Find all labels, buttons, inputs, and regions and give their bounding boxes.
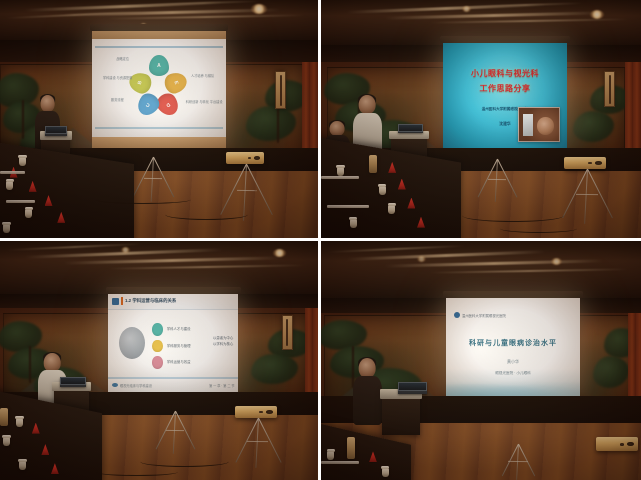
projection-screen[interactable]: 温州医科大学附属眼视光医院 科研与儿童眼病诊治水平 黄小华 眼视光医院 · 小儿… [446,298,580,396]
slide-inset-photo [518,107,560,143]
ceiling-downlight-icon [251,4,267,14]
photo-panel-bottom-right[interactable]: 温州医科大学附属眼视光医院 科研与儿童眼病诊治水平 黄小华 眼视光医院 · 小儿… [321,241,641,480]
tripod-icon [239,418,277,468]
screen-tripod-icon [159,411,191,454]
teacup-icon [388,205,395,214]
petal-label-b: 学科建设 与资源配置 [103,76,133,81]
projector-icon[interactable] [235,406,276,418]
slide-title-blue: 小儿眼科与视光科 工作思路分享 温州医科大学附属眼视光医院 沈建华 [443,43,568,148]
laptop-icon [398,124,424,134]
photo-collage: A E D C B 战略定位 人才培养 与梯队 科研创新 与转化 平台建设 服务… [0,0,641,480]
petal-c: C [133,90,162,119]
projection-screen[interactable]: 1.2 学科运营与临床的关系 学科人才与建设 学科服务与管理 学科运营与效益 以… [108,294,238,392]
header-bar-icon [121,297,123,305]
slide-footer-left: 眼视光临床与学科建设 [120,383,152,388]
slide-logo: 温州医科大学附属眼视光医院 [454,312,506,318]
petal-label-e: 人才培养 与梯队 [191,74,214,79]
slide-side-notes: 以患者为中心 以学科为核心 [213,335,233,348]
logo-mark-icon [454,312,460,318]
projection-screen[interactable]: A E D C B 战略定位 人才培养 与梯队 科研创新 与转化 平台建设 服务… [92,31,226,148]
laptop-icon [60,377,85,387]
ceiling-downlight-icon [590,10,604,19]
bullet-marker-1 [152,323,162,336]
slide-header: 1.2 学科运营与临床的关系 [108,294,238,311]
photo-panel-top-left[interactable]: A E D C B 战略定位 人才培养 与梯队 科研创新 与转化 平台建设 服务… [0,0,318,238]
projection-screen[interactable]: 小儿眼科与视光科 工作思路分享 温州医科大学附属眼视光医院 沈建华 [443,43,568,148]
slide-affiliation: 眼视光医院 · 小儿眼科 [446,371,580,376]
thermos-icon [0,408,8,426]
teacup-icon [19,461,26,470]
thermos-icon [347,437,355,459]
laptop-icon [45,126,67,136]
diagram-circle [119,327,145,359]
slide-footer-right: 第 一 章 · 第 二 节 [209,383,235,388]
slide-main-title: 科研与儿童眼病诊治水平 [446,338,580,348]
petal-label-a: 战略定位 [116,57,129,62]
teacup-icon [6,181,13,190]
ceiling-downlight-icon [273,249,286,257]
teacup-icon [350,219,357,228]
ceiling-downlight-icon [551,258,562,265]
ceiling [321,241,641,298]
ceiling-downlight-icon [417,256,426,262]
petal-a: A [149,55,169,77]
photo-panel-top-right[interactable]: 小儿眼科与视光科 工作思路分享 温州医科大学附属眼视光医院 沈建华 [321,0,641,238]
ceiling-downlight-icon [462,6,471,12]
header-square-icon [112,298,119,305]
teacup-icon [19,157,26,166]
slide-content: 1.2 学科运营与临床的关系 学科人才与建设 学科服务与管理 学科运营与效益 以… [108,294,238,392]
bullet-text-2: 学科服务与管理 [167,343,191,348]
laptop-icon [398,382,427,394]
slide-footer: 眼视光临床与学科建设 第 一 章 · 第 二 节 [108,377,238,392]
calligraphy-scroll-icon [282,315,293,350]
conference-room-scene: 小儿眼科与视光科 工作思路分享 温州医科大学附属眼视光医院 沈建华 [321,0,641,238]
bullet-marker-2 [152,340,162,353]
petal-label-c: 服务流程 [111,98,124,103]
teacup-icon [337,167,344,176]
petal-label-d: 科研创新 与转化 平台建设 [186,100,223,105]
bullet-marker-3 [152,356,162,369]
slide-petal-diagram: A E D C B 战略定位 人才培养 与梯队 科研创新 与转化 平台建设 服务… [92,39,226,137]
screen-tripod-icon [481,159,513,202]
teacup-icon [382,468,389,477]
projector-icon[interactable] [564,157,606,169]
slide-title-line2: 工作思路分享 [443,83,568,94]
bullet-text-1: 学科人才与建设 [167,326,191,331]
conference-room-scene: 1.2 学科运营与临床的关系 学科人才与建设 学科服务与管理 学科运营与效益 以… [0,241,318,480]
slide-logo-text: 温州医科大学附属眼视光医院 [462,313,506,318]
projector-icon[interactable] [226,152,264,164]
bullet-text-3: 学科运营与效益 [167,359,191,364]
teacup-icon [16,418,23,427]
conference-room-scene: A E D C B 战略定位 人才培养 与梯队 科研创新 与转化 平台建设 服务… [0,0,318,238]
presenter [353,358,382,425]
slide-title-white: 温州医科大学附属眼视光医院 科研与儿童眼病诊治水平 黄小华 眼视光医院 · 小儿… [446,298,580,396]
photo-panel-bottom-left[interactable]: 1.2 学科运营与临床的关系 学科人才与建设 学科服务与管理 学科运营与效益 以… [0,241,318,480]
conference-room-scene: 温州医科大学附属眼视光医院 科研与儿童眼病诊治水平 黄小华 眼视光医院 · 小儿… [321,241,641,480]
footer-dot-icon [112,383,118,387]
teacup-icon [3,437,10,446]
slide-header-text: 1.2 学科运营与临床的关系 [125,298,176,304]
tripod-icon [567,169,605,224]
screen-tripod-icon [500,444,535,480]
podium [382,389,420,434]
calligraphy-scroll-icon [275,71,286,109]
projector-icon[interactable] [596,437,638,451]
thermos-icon [369,155,377,173]
calligraphy-scroll-icon [604,71,615,107]
slide-title-line1: 小儿眼科与视光科 [443,68,568,79]
teacup-icon [3,224,10,233]
teacup-icon [379,186,386,195]
ceiling [0,241,318,294]
slide-speaker: 黄小华 [446,359,580,365]
